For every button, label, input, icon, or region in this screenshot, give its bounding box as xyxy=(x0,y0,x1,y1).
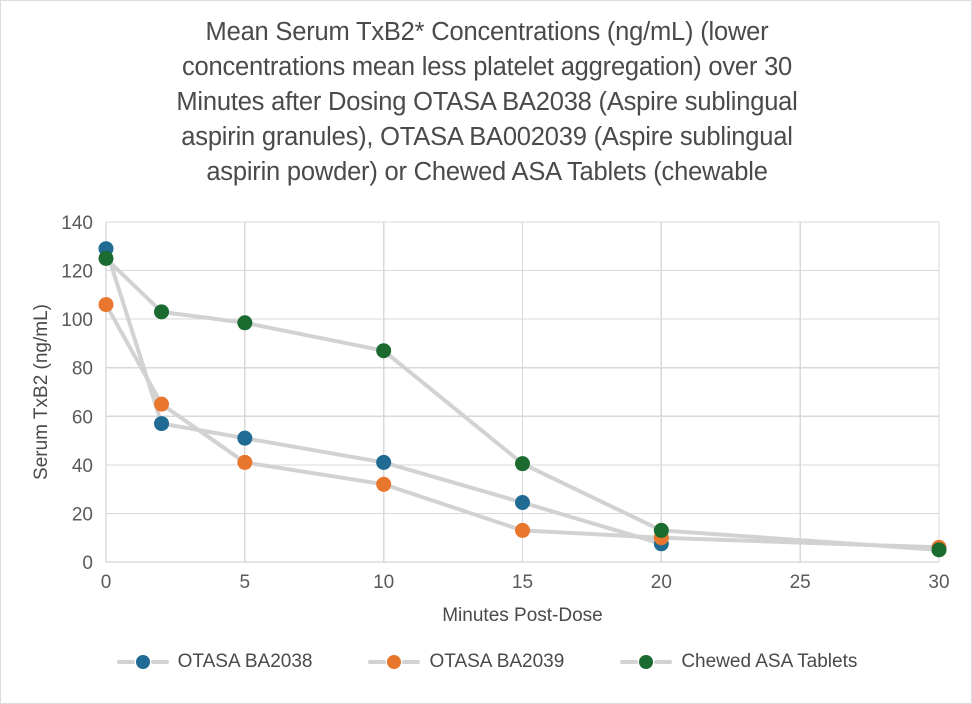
y-tick-label: 140 xyxy=(61,213,93,234)
y-tick-label: 60 xyxy=(72,407,93,428)
legend-line-icon xyxy=(151,660,169,664)
y-tick-label: 100 xyxy=(61,310,93,331)
x-tick-label: 25 xyxy=(790,572,811,593)
legend-item[interactable]: OTASA BA2038 xyxy=(117,651,313,673)
legend-label: Chewed ASA Tablets xyxy=(681,651,857,673)
data-point xyxy=(99,297,114,312)
legend-line-icon xyxy=(620,660,638,664)
data-point xyxy=(154,304,169,319)
data-point xyxy=(654,523,669,538)
legend-item[interactable]: OTASA BA2039 xyxy=(368,651,564,673)
x-tick-label: 15 xyxy=(512,572,533,593)
legend-marker-icon xyxy=(639,655,653,669)
y-tick-label: 0 xyxy=(82,553,93,574)
data-point xyxy=(376,343,391,358)
data-point xyxy=(154,416,169,431)
legend-label: OTASA BA2038 xyxy=(178,651,313,673)
data-point xyxy=(932,542,947,557)
legend-line-icon xyxy=(117,660,135,664)
legend-marker-icon xyxy=(136,655,150,669)
y-tick-label: 20 xyxy=(72,504,93,525)
x-tick-label: 0 xyxy=(101,572,112,593)
data-point xyxy=(99,251,114,266)
data-point xyxy=(237,455,252,470)
legend-line-icon xyxy=(402,660,420,664)
y-tick-label: 80 xyxy=(72,359,93,380)
chart-page: Mean Serum TxB2* Concentrations (ng/mL) … xyxy=(0,0,972,704)
data-point xyxy=(515,495,530,510)
gridlines xyxy=(106,222,939,562)
legend-line-icon xyxy=(368,660,386,664)
y-tick-label: 120 xyxy=(61,262,93,283)
data-point xyxy=(376,477,391,492)
data-point xyxy=(237,431,252,446)
data-point xyxy=(154,397,169,412)
chart-legend: OTASA BA2038OTASA BA2039Chewed ASA Table… xyxy=(1,651,972,673)
x-axis-title: Minutes Post-Dose xyxy=(442,605,603,626)
y-axis-title: Serum TxB2 (ng/mL) xyxy=(31,304,52,480)
x-tick-label: 5 xyxy=(240,572,251,593)
legend-line-icon xyxy=(654,660,672,664)
y-tick-label: 40 xyxy=(72,456,93,477)
legend-marker-icon xyxy=(387,655,401,669)
chart-svg: 020406080100120140051015202530 Minutes P… xyxy=(1,1,972,704)
legend-item[interactable]: Chewed ASA Tablets xyxy=(620,651,857,673)
data-point xyxy=(515,456,530,471)
data-point xyxy=(237,315,252,330)
x-tick-label: 30 xyxy=(928,572,949,593)
data-point xyxy=(376,455,391,470)
data-point xyxy=(515,523,530,538)
x-tick-label: 20 xyxy=(651,572,672,593)
legend-label: OTASA BA2039 xyxy=(429,651,564,673)
plot-area: 020406080100120140051015202530 Minutes P… xyxy=(1,1,972,704)
x-tick-label: 10 xyxy=(373,572,394,593)
